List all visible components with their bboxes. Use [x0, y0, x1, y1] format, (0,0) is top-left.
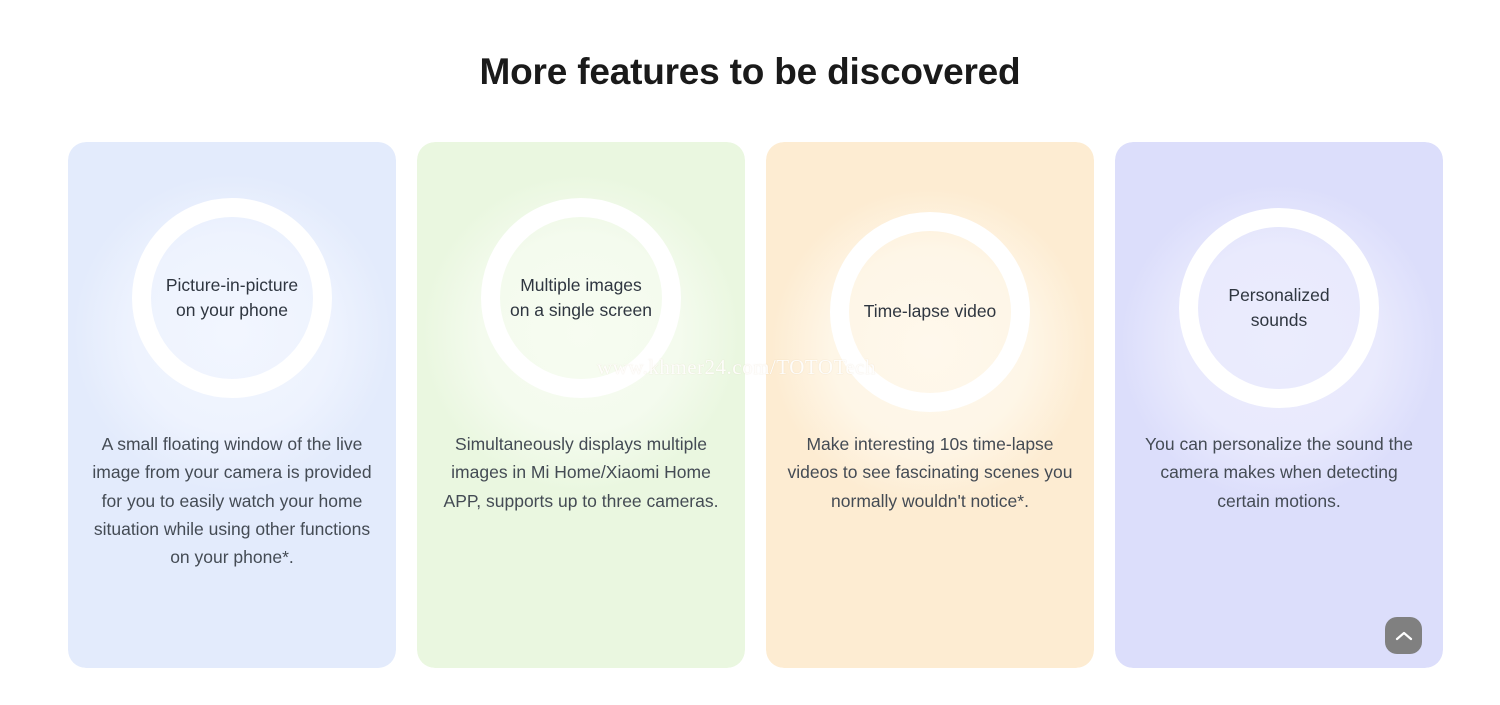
- page-title: More features to be discovered: [0, 50, 1500, 94]
- feature-ring: Multiple images on a single screen: [481, 198, 681, 398]
- feature-card-picture-in-picture[interactable]: Picture-in-picture on your phone A small…: [68, 142, 396, 668]
- feature-card-time-lapse-video[interactable]: Time-lapse video Make interesting 10s ti…: [766, 142, 1094, 668]
- feature-section-page: More features to be discovered Picture-i…: [0, 0, 1500, 705]
- feature-ring: Personalized sounds: [1179, 208, 1379, 408]
- feature-ring-label: Picture-in-picture on your phone: [132, 198, 332, 398]
- feature-description: Simultaneously displays multiple images …: [435, 430, 727, 515]
- feature-card-multiple-images[interactable]: Multiple images on a single screen Simul…: [417, 142, 745, 668]
- feature-ring-label: Multiple images on a single screen: [481, 198, 681, 398]
- feature-description: You can personalize the sound the camera…: [1133, 430, 1425, 515]
- feature-card-personalized-sounds[interactable]: Personalized sounds You can personalize …: [1115, 142, 1443, 668]
- feature-card-list: Picture-in-picture on your phone A small…: [68, 142, 1432, 668]
- feature-ring: Time-lapse video: [830, 212, 1030, 412]
- feature-ring-label: Time-lapse video: [830, 212, 1030, 412]
- scroll-to-top-button[interactable]: [1385, 617, 1422, 654]
- feature-description: A small floating window of the live imag…: [86, 430, 378, 572]
- feature-ring-label: Personalized sounds: [1179, 208, 1379, 408]
- chevron-up-icon: [1395, 630, 1413, 642]
- feature-description: Make interesting 10s time-lapse videos t…: [784, 430, 1076, 515]
- feature-ring: Picture-in-picture on your phone: [132, 198, 332, 398]
